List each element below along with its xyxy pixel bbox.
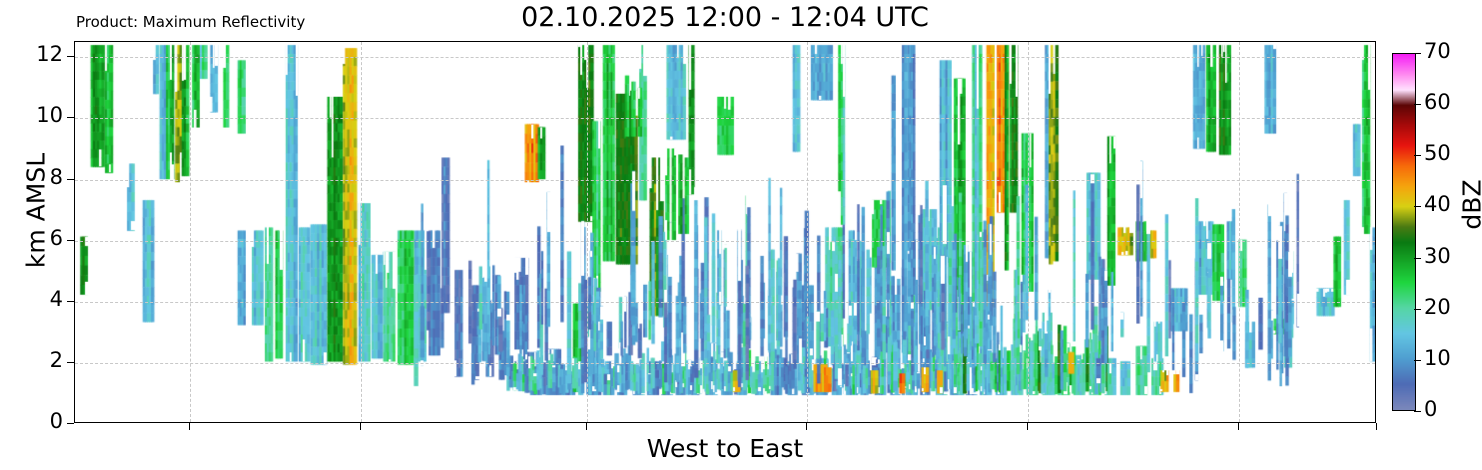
colorbar-tick-label: 70 xyxy=(1424,39,1451,63)
y-tick-mark xyxy=(67,117,74,118)
y-tick-label: 2 xyxy=(50,348,63,372)
y-tick-label: 8 xyxy=(50,165,63,189)
y-tick-mark xyxy=(67,56,74,57)
y-tick-label: 12 xyxy=(36,42,63,66)
colorbar-tick-label: 10 xyxy=(1424,346,1451,370)
y-tick-label: 10 xyxy=(36,103,63,127)
colorbar-tick-mark xyxy=(1414,206,1421,207)
colorbar-tick-mark xyxy=(1414,309,1421,310)
y-tick-label: 4 xyxy=(50,287,63,311)
colorbar-tick-mark xyxy=(1414,155,1421,156)
y-axis-label: km AMSL xyxy=(22,111,51,311)
reflectivity-heatmap-canvas xyxy=(75,42,1375,422)
x-tick-mark xyxy=(1376,423,1377,430)
page-title: 02.10.2025 12:00 - 12:04 UTC xyxy=(74,2,1376,33)
colorbar-tick-mark xyxy=(1414,258,1421,259)
x-tick-mark xyxy=(189,423,190,430)
colorbar-gradient xyxy=(1392,53,1416,411)
radar-cross-section-figure: Product: Maximum Reflectivity 02.10.2025… xyxy=(0,0,1482,470)
y-tick-label: 6 xyxy=(50,226,63,250)
x-tick-mark xyxy=(360,423,361,430)
colorbar-tick-mark xyxy=(1414,411,1421,412)
y-tick-mark xyxy=(67,423,74,424)
colorbar-label: dBZ xyxy=(1458,125,1482,285)
colorbar-tick-label: 0 xyxy=(1424,397,1437,421)
x-axis-label: West to East xyxy=(74,434,1376,463)
colorbar-tick-label: 60 xyxy=(1424,90,1451,114)
y-tick-mark xyxy=(67,179,74,180)
y-tick-mark xyxy=(67,240,74,241)
colorbar-tick-label: 30 xyxy=(1424,244,1451,268)
colorbar-tick-mark xyxy=(1414,360,1421,361)
colorbar-tick-mark xyxy=(1414,104,1421,105)
x-tick-mark xyxy=(1027,423,1028,430)
colorbar-tick-label: 50 xyxy=(1424,141,1451,165)
colorbar-tick-label: 40 xyxy=(1424,192,1451,216)
colorbar xyxy=(1392,53,1416,411)
x-tick-mark xyxy=(1238,423,1239,430)
x-tick-mark xyxy=(586,423,587,430)
x-tick-mark xyxy=(806,423,807,430)
plot-area xyxy=(74,41,1376,423)
y-tick-label: 0 xyxy=(50,409,63,433)
colorbar-tick-mark xyxy=(1414,53,1421,54)
y-tick-mark xyxy=(67,301,74,302)
y-tick-mark xyxy=(67,362,74,363)
colorbar-tick-label: 20 xyxy=(1424,295,1451,319)
